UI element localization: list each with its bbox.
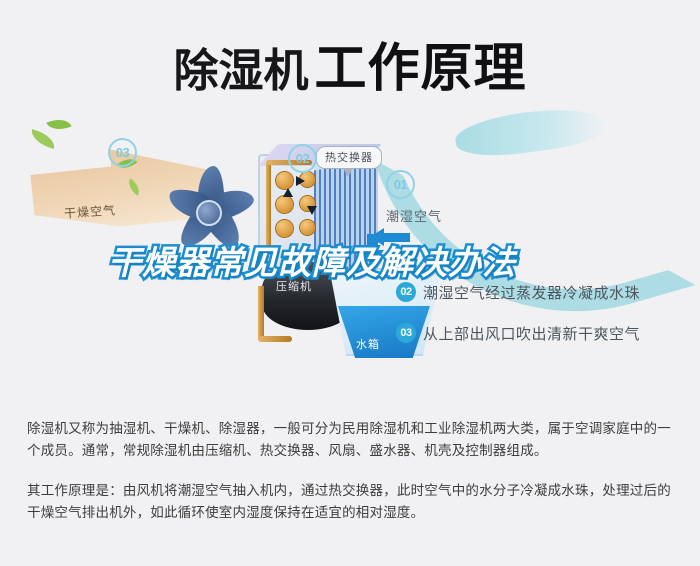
leaf-icon [46, 114, 71, 134]
list-item: 03 从上部出风口吹出清新干爽空气 [396, 322, 686, 344]
overlay-headline: 干燥器常见故障及解决办法 [108, 244, 598, 282]
diagram-badge-03: 03 [108, 138, 137, 167]
dry-air-label: 干燥空气 [63, 201, 116, 222]
step-number-badge: 02 [396, 282, 416, 302]
step-number-badge: 03 [396, 323, 416, 343]
fan-icon [160, 160, 256, 252]
body-paragraph-2: 其工作原理是：由风机将潮湿空气抽入机内，通过热交换器，此时空气中的水分子冷凝成水… [27, 480, 675, 524]
humid-air-label: 潮湿空气 [386, 206, 442, 225]
page-title-part1: 除湿机 [173, 45, 308, 96]
compressor-pipe [258, 286, 264, 340]
coil-icon [276, 220, 293, 237]
step-text: 从上部出风口吹出清新干爽空气 [423, 323, 640, 344]
page-title-part2: 工作原理 [315, 40, 527, 98]
flow-arrow-icon [296, 176, 305, 186]
refrigerant-pipe [266, 162, 271, 254]
body-paragraph-1: 除湿机又称为抽湿机、干燥机、除湿器，一般可分为民用除湿机和工业除湿机两大类，属于… [27, 418, 675, 462]
page-title: 除湿机工作原理 [0, 26, 700, 101]
diagram-badge-01: 01 [386, 170, 415, 199]
step-text: 潮湿空气经过蒸发器冷凝成水珠 [423, 282, 640, 303]
diagram-badge-02: 02 [288, 144, 317, 173]
flow-arrow-icon [283, 188, 293, 197]
list-item: 02 潮湿空气经过蒸发器冷凝成水珠 [396, 281, 686, 303]
heat-exchanger-callout: 热交换器 [316, 146, 382, 169]
coil-icon [276, 196, 293, 213]
leaf-icon [29, 129, 58, 149]
article-body: 除湿机又称为抽湿机、干燥机、除湿器，一般可分为民用除湿机和工业除湿机两大类，属于… [27, 418, 675, 542]
compressor-pipe [258, 336, 292, 342]
flow-arrow-icon [307, 206, 317, 215]
water-tank-label: 水箱 [356, 336, 380, 352]
coil-icon [276, 172, 293, 189]
coil-icon [300, 220, 315, 235]
